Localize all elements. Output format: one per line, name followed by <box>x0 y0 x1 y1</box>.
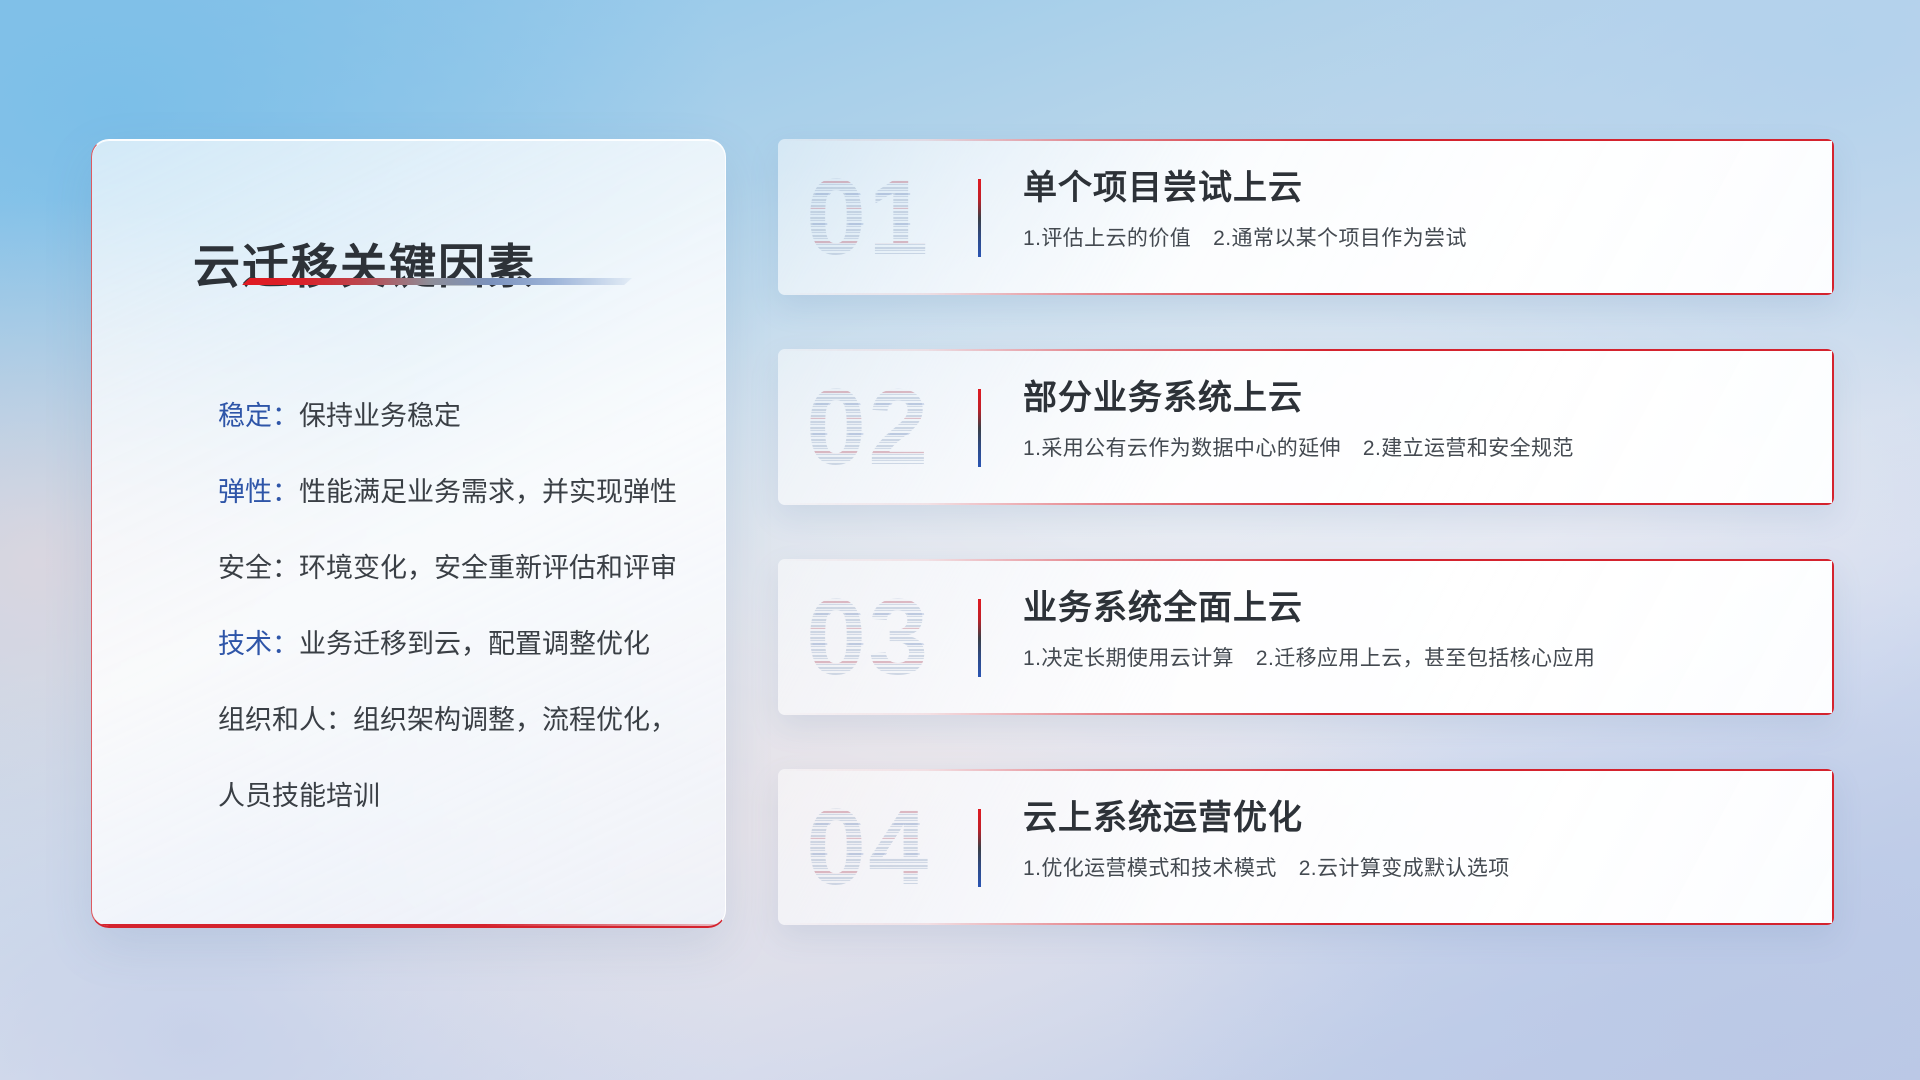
list-item-continuation: 人员技能培训 <box>218 758 701 834</box>
step-description: 1.决定长期使用云计算2.迁移应用上云，甚至包括核心应用 <box>1023 644 1812 674</box>
step-card-01[interactable]: 01 01 01 单个项目尝试上云 1.评估上云的价值2.通常以某个项目作为尝试 <box>778 139 1834 295</box>
factor-value: 人员技能培训 <box>218 781 380 811</box>
step-point-1: 1.评估上云的价值 <box>1023 227 1191 250</box>
step-title: 业务系统全面上云 <box>1023 585 1812 631</box>
list-item: 安全：环境变化，安全重新评估和评审 <box>218 530 701 606</box>
card-right-accent-border <box>1832 139 1834 295</box>
step-title: 部分业务系统上云 <box>1023 375 1812 421</box>
step-number-04: 04 04 04 <box>806 793 1002 901</box>
step-description: 1.优化运营模式和技术模式2.云计算变成默认选项 <box>1023 854 1812 884</box>
card-bottom-accent-border <box>778 923 1834 925</box>
step-point-2: 2.迁移应用上云，甚至包括核心应用 <box>1256 647 1595 670</box>
step-divider-bar <box>978 389 981 467</box>
step-text-block: 业务系统全面上云 1.决定长期使用云计算2.迁移应用上云，甚至包括核心应用 <box>1023 585 1812 674</box>
factor-label: 稳定： <box>218 401 299 431</box>
list-item: 技术：业务迁移到云，配置调整优化 <box>218 606 701 682</box>
step-number-blue-glitch: 02 <box>808 373 932 481</box>
step-card-04[interactable]: 04 04 04 云上系统运营优化 1.优化运营模式和技术模式2.云计算变成默认… <box>778 769 1834 925</box>
page-title: 云迁移关键因素 <box>193 228 536 297</box>
title-underline-rule <box>242 278 632 285</box>
factor-value: 组织架构调整，流程优化， <box>353 705 677 735</box>
step-point-1: 1.采用公有云作为数据中心的延伸 <box>1023 437 1341 460</box>
step-point-1: 1.优化运营模式和技术模式 <box>1023 857 1277 880</box>
card-bottom-accent-border <box>778 293 1834 295</box>
step-description: 1.评估上云的价值2.通常以某个项目作为尝试 <box>1023 224 1812 254</box>
card-bottom-accent-border <box>778 503 1834 505</box>
step-point-2: 2.通常以某个项目作为尝试 <box>1213 227 1467 250</box>
step-number-01: 01 01 01 <box>806 163 1002 271</box>
card-bottom-accent-border <box>778 713 1834 715</box>
step-number-blue-glitch: 01 <box>808 163 932 271</box>
step-divider-bar <box>978 809 981 887</box>
key-factors-list: 稳定：保持业务稳定 弹性：性能满足业务需求，并实现弹性 安全：环境变化，安全重新… <box>218 378 701 834</box>
factor-value: 保持业务稳定 <box>299 401 461 431</box>
card-top-accent-border <box>778 349 1834 351</box>
factor-value: 环境变化，安全重新评估和评审 <box>299 553 677 583</box>
factor-label: 组织和人： <box>218 705 353 735</box>
step-number-blue-glitch: 04 <box>808 793 932 901</box>
step-number-02: 02 02 02 <box>806 373 1002 481</box>
step-text-block: 云上系统运营优化 1.优化运营模式和技术模式2.云计算变成默认选项 <box>1023 795 1812 884</box>
list-item: 稳定：保持业务稳定 <box>218 378 701 454</box>
list-item: 组织和人：组织架构调整，流程优化， <box>218 682 701 758</box>
card-top-accent-border <box>778 769 1834 771</box>
step-point-2: 2.云计算变成默认选项 <box>1299 857 1510 880</box>
factor-value: 业务迁移到云，配置调整优化 <box>299 629 650 659</box>
slide-canvas: 云迁移关键因素 稳定：保持业务稳定 弹性：性能满足业务需求，并实现弹性 安全：环… <box>0 0 1920 1080</box>
card-right-accent-border <box>1832 349 1834 505</box>
step-number-03: 03 03 03 <box>806 583 1002 691</box>
step-description: 1.采用公有云作为数据中心的延伸2.建立运营和安全规范 <box>1023 434 1812 464</box>
step-card-02[interactable]: 02 02 02 部分业务系统上云 1.采用公有云作为数据中心的延伸2.建立运营… <box>778 349 1834 505</box>
factor-label: 弹性： <box>218 477 299 507</box>
card-top-accent-border <box>778 559 1834 561</box>
factor-label: 安全： <box>218 553 299 583</box>
step-point-2: 2.建立运营和安全规范 <box>1363 437 1574 460</box>
step-title: 单个项目尝试上云 <box>1023 165 1812 211</box>
step-point-1: 1.决定长期使用云计算 <box>1023 647 1234 670</box>
card-right-accent-border <box>1832 559 1834 715</box>
card-right-accent-border <box>1832 769 1834 925</box>
key-factors-panel: 云迁移关键因素 稳定：保持业务稳定 弹性：性能满足业务需求，并实现弹性 安全：环… <box>91 139 726 928</box>
card-top-accent-border <box>778 139 1834 141</box>
step-title: 云上系统运营优化 <box>1023 795 1812 841</box>
step-divider-bar <box>978 599 981 677</box>
step-text-block: 单个项目尝试上云 1.评估上云的价值2.通常以某个项目作为尝试 <box>1023 165 1812 254</box>
factor-label: 技术： <box>218 629 299 659</box>
step-number-blue-glitch: 03 <box>808 583 932 691</box>
step-text-block: 部分业务系统上云 1.采用公有云作为数据中心的延伸2.建立运营和安全规范 <box>1023 375 1812 464</box>
step-card-03[interactable]: 03 03 03 业务系统全面上云 1.决定长期使用云计算2.迁移应用上云，甚至… <box>778 559 1834 715</box>
list-item: 弹性：性能满足业务需求，并实现弹性 <box>218 454 701 530</box>
factor-value: 性能满足业务需求，并实现弹性 <box>299 477 677 507</box>
step-divider-bar <box>978 179 981 257</box>
